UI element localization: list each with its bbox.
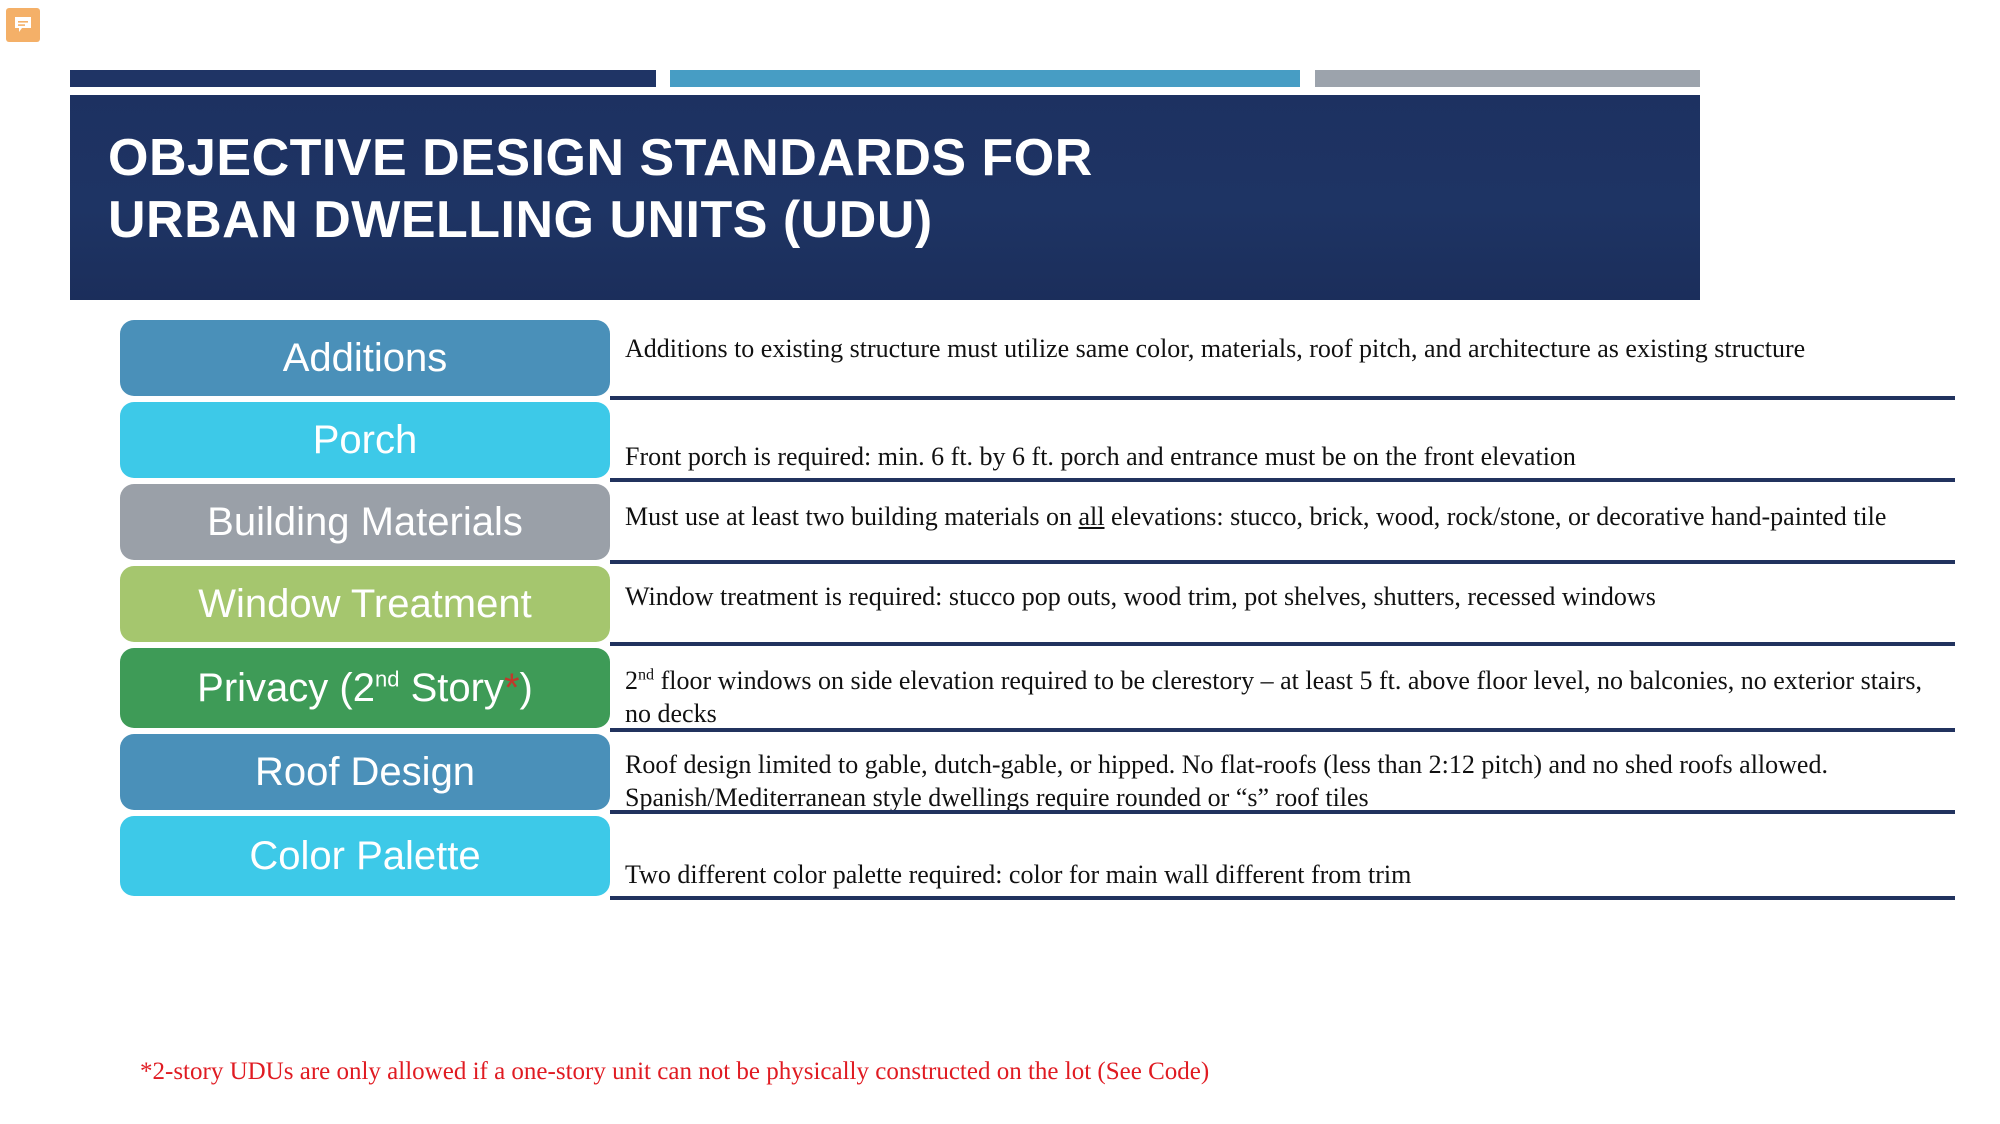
- category-label-text: Color Palette: [249, 835, 480, 877]
- comment-bubble-glyph: [13, 15, 33, 35]
- category-label-box[interactable]: Roof Design: [120, 734, 610, 810]
- standard-description: Window treatment is required: stucco pop…: [625, 580, 1945, 613]
- accent-bar-blue: [670, 70, 1300, 87]
- category-label-text: Additions: [283, 337, 448, 379]
- page-title-line-2: URBAN DWELLING UNITS (UDU): [108, 189, 1700, 251]
- category-label-text: Porch: [313, 419, 418, 461]
- standard-description: Front porch is required: min. 6 ft. by 6…: [625, 440, 1945, 473]
- standards-row: Privacy (2nd Story*)2nd floor windows on…: [0, 646, 2000, 732]
- category-label-box[interactable]: Privacy (2nd Story*): [120, 648, 610, 728]
- category-label-box[interactable]: Building Materials: [120, 484, 610, 560]
- standard-description: Additions to existing structure must uti…: [625, 332, 1945, 365]
- category-label-box[interactable]: Additions: [120, 320, 610, 396]
- standards-row: Roof DesignRoof design limited to gable,…: [0, 732, 2000, 814]
- standards-row: Window TreatmentWindow treatment is requ…: [0, 564, 2000, 646]
- footnote: *2-story UDUs are only allowed if a one-…: [140, 1058, 1209, 1086]
- standards-row: Building MaterialsMust use at least two …: [0, 482, 2000, 564]
- standard-description: Two different color palette required: co…: [625, 858, 1945, 891]
- comment-icon[interactable]: [6, 8, 40, 42]
- accent-bar-navy: [70, 70, 656, 87]
- standards-table: AdditionsAdditions to existing structure…: [0, 318, 2000, 900]
- standard-description: 2nd floor windows on side elevation requ…: [625, 664, 1945, 730]
- category-label-box[interactable]: Color Palette: [120, 816, 610, 896]
- accent-bars: [70, 70, 1700, 87]
- standard-description: Must use at least two building materials…: [625, 500, 1945, 533]
- standards-row: PorchFront porch is required: min. 6 ft.…: [0, 400, 2000, 482]
- row-divider: [610, 896, 1955, 900]
- category-label-text: Roof Design: [255, 751, 475, 793]
- standard-description: Roof design limited to gable, dutch-gabl…: [625, 748, 1945, 814]
- category-label-text: Privacy (2nd Story*): [197, 667, 533, 709]
- accent-bar-gray: [1315, 70, 1700, 87]
- title-banner: OBJECTIVE DESIGN STANDARDS FOR URBAN DWE…: [70, 95, 1700, 300]
- page-title-line-1: OBJECTIVE DESIGN STANDARDS FOR: [108, 127, 1700, 189]
- category-label-text: Window Treatment: [198, 583, 531, 625]
- category-label-text: Building Materials: [207, 501, 523, 543]
- standards-row: AdditionsAdditions to existing structure…: [0, 318, 2000, 400]
- category-label-box[interactable]: Window Treatment: [120, 566, 610, 642]
- standards-row: Color PaletteTwo different color palette…: [0, 814, 2000, 900]
- category-label-box[interactable]: Porch: [120, 402, 610, 478]
